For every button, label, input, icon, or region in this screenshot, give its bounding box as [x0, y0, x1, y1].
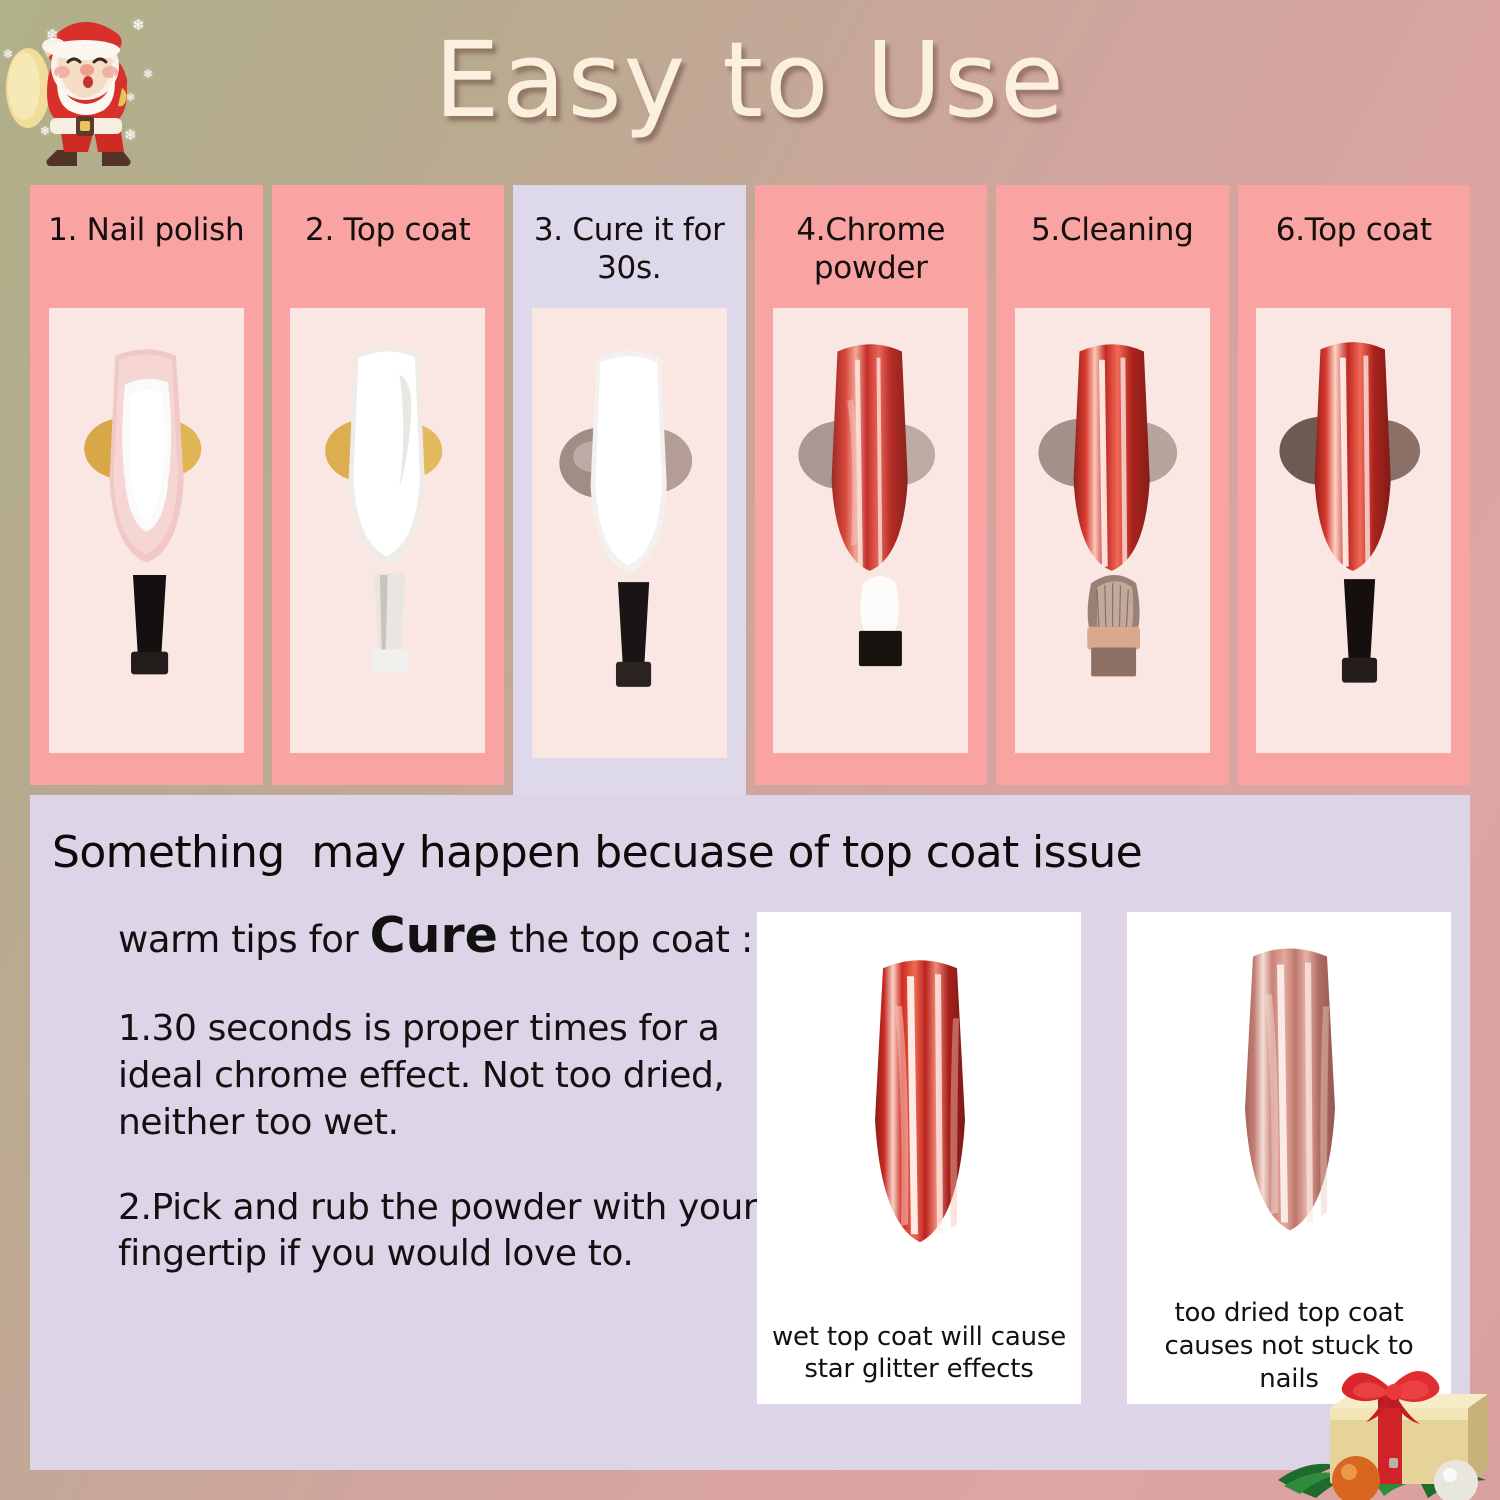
top-coat-issue-panel: Something may happen becuase of top coat… — [30, 795, 1470, 1470]
step-label: 3. Cure it for 30s. — [513, 185, 746, 298]
tips-lead: warm tips for Cure the top coat : — [118, 903, 758, 968]
step-photo-cure — [532, 308, 727, 758]
step-card-3: 3. Cure it for 30s. — [513, 185, 746, 808]
infographic-page: ❄ ❄ ❄ ❄ ❄ ❄ ❄ Easy to Use 1. Nail polish — [0, 0, 1500, 1500]
tips-lead-after: the top coat : — [498, 918, 753, 961]
tip-item: 2.Pick and rub the powder with your fing… — [118, 1185, 758, 1279]
tip-item: 1.30 seconds is proper times for a ideal… — [118, 1006, 758, 1146]
christmas-gift-icon — [1270, 1330, 1500, 1500]
tips-lead-before: warm tips for — [118, 918, 370, 961]
step-card-2: 2. Top coat — [272, 185, 505, 785]
step-label: 4.Chrome powder — [755, 185, 988, 298]
step-label: 6.Top coat — [1270, 185, 1438, 298]
step-label: 5.Cleaning — [1025, 185, 1200, 298]
step-photo-nail-polish — [49, 308, 244, 753]
step-label: 1. Nail polish — [42, 185, 250, 298]
bottom-heading: Something may happen becuase of top coat… — [30, 795, 1470, 878]
page-title: Easy to Use — [0, 28, 1500, 132]
step-card-5: 5.Cleaning — [996, 185, 1229, 785]
step-photo-top-coat — [290, 308, 485, 753]
steps-strip: 1. Nail polish 2. Top coat — [30, 185, 1470, 785]
bright-red-chrome-nail-icon — [757, 912, 1081, 1321]
step-photo-cleaning — [1015, 308, 1210, 753]
comparison-card-wet: wet top coat will cause star glitter eff… — [757, 912, 1081, 1404]
step-photo-final-top-coat — [1256, 308, 1451, 753]
step-label: 2. Top coat — [299, 185, 476, 298]
step-photo-chrome-powder — [773, 308, 968, 753]
step-card-1: 1. Nail polish — [30, 185, 263, 785]
dull-rose-chrome-nail-icon — [1127, 912, 1451, 1297]
tips-lead-emphasis: Cure — [370, 907, 498, 964]
step-card-6: 6.Top coat — [1238, 185, 1471, 785]
step-card-4: 4.Chrome powder — [755, 185, 988, 785]
card-caption: wet top coat will cause star glitter eff… — [757, 1321, 1081, 1405]
warm-tips-block: warm tips for Cure the top coat : 1.30 s… — [118, 903, 758, 1278]
